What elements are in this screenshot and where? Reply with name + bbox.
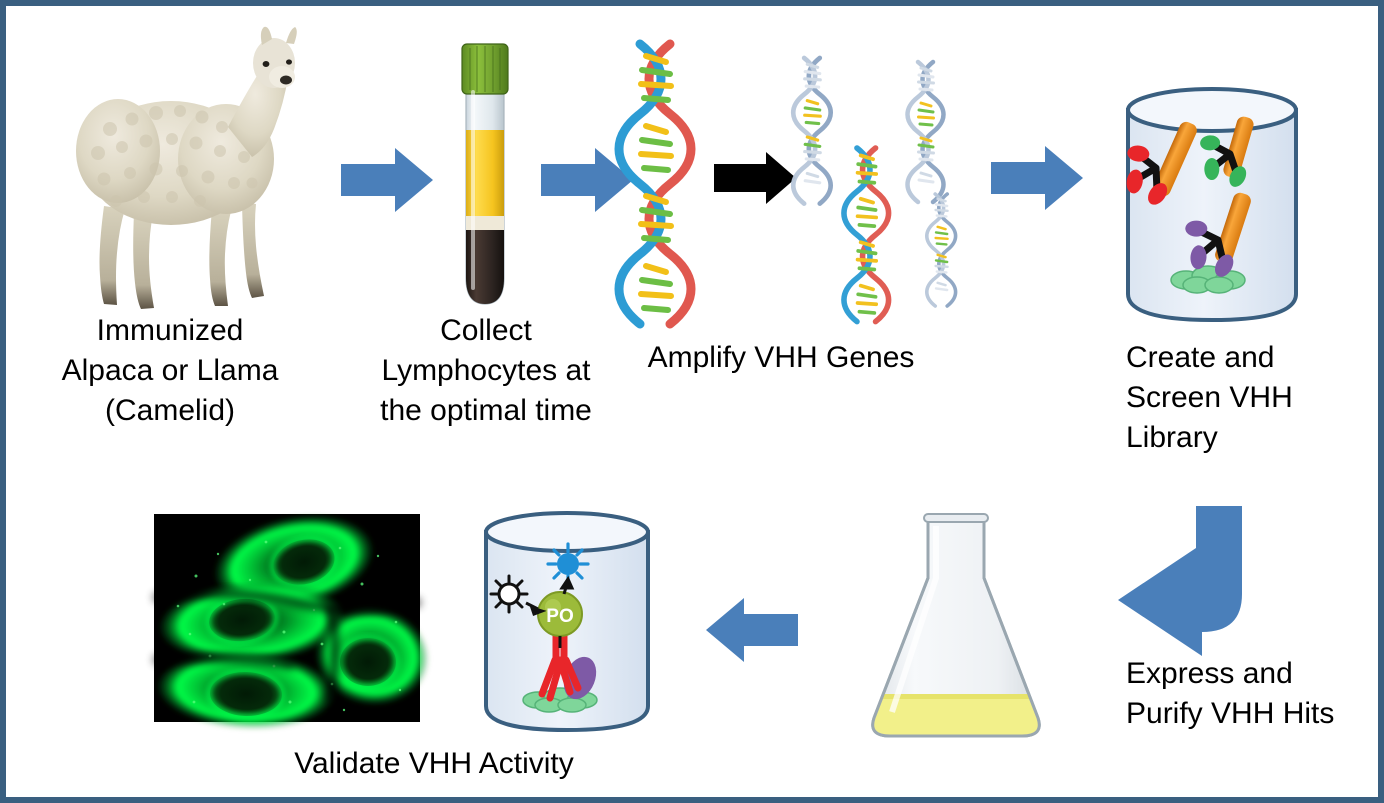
dna-amplification-icon (614, 44, 984, 324)
erlenmeyer-flask-icon (856, 504, 1056, 746)
svg-text:PO: PO (546, 606, 573, 627)
alpaca-image (46, 31, 296, 316)
vhh-workflow-diagram: Immunized Alpaca or Llama (Camelid) (0, 0, 1384, 803)
step-label-collect: Collect Lymphocytes at the optimal time (336, 311, 636, 431)
phage-library-cylinder-icon (1118, 84, 1306, 324)
arrow-amplify-to-library (991, 144, 1083, 212)
arrow-library-to-express (1104, 506, 1254, 666)
step-label-express: Express and Purify VHH Hits (1126, 654, 1384, 734)
step-label-library: Create and Screen VHH Library (1126, 338, 1384, 458)
step-label-validate: Validate VHH Activity (234, 744, 634, 784)
step-label-immunize: Immunized Alpaca or Llama (Camelid) (20, 311, 320, 431)
blood-collection-tube-icon (454, 38, 516, 310)
fluorescence-microscopy-image (154, 514, 420, 722)
arrow-express-to-validate (706, 596, 798, 664)
step-label-amplify: Amplify VHH Genes (606, 338, 956, 378)
elisa-detection-cylinder-icon: PO (476, 508, 658, 736)
arrow-immunize-to-collect (341, 146, 433, 214)
